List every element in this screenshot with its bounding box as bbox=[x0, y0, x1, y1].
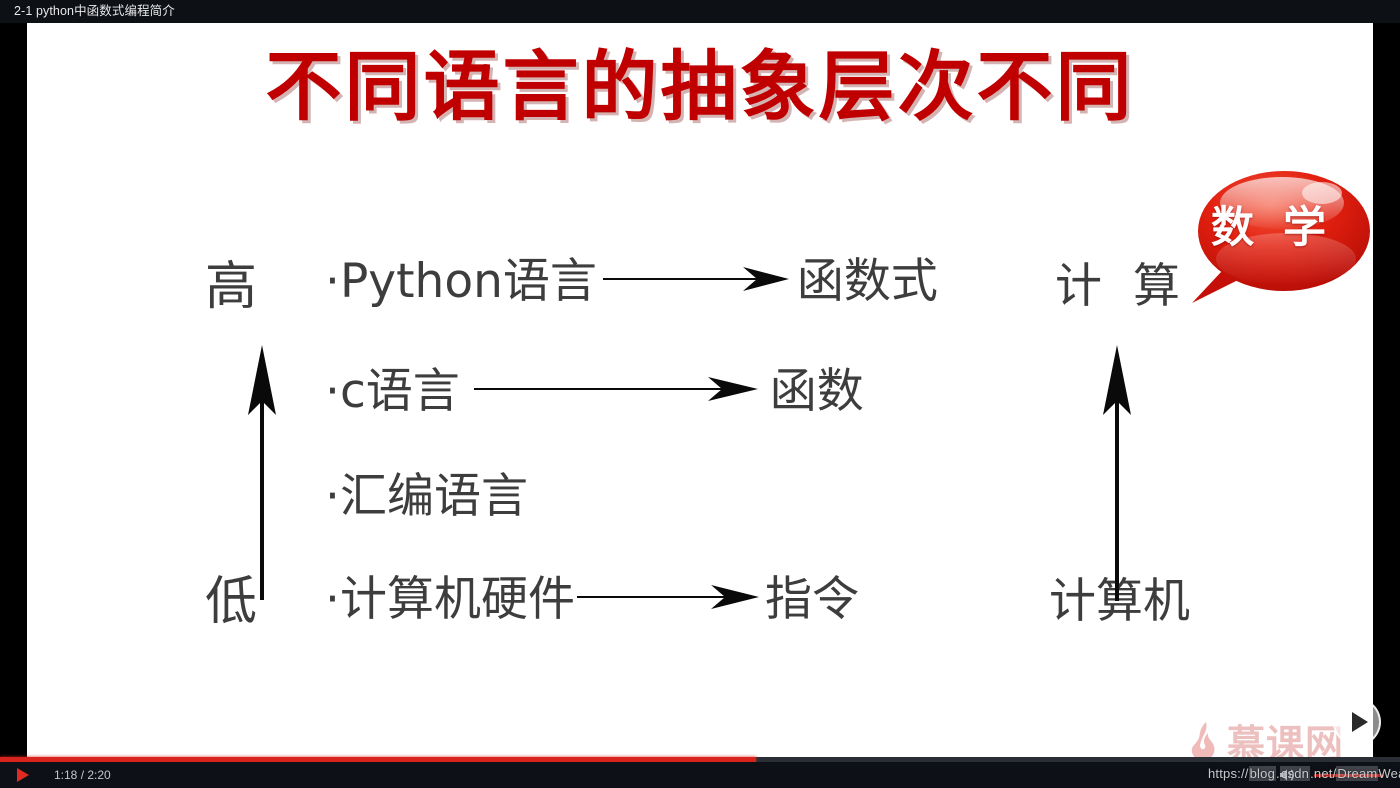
row-python: ·Python语言 函数式 bbox=[325, 258, 938, 305]
flame-icon bbox=[1189, 721, 1219, 757]
slide-canvas: 不同语言的抽象层次不同 高 低 ·Python语言 函数式 ·c语言 bbox=[27, 23, 1373, 757]
arrow-right-icon bbox=[597, 259, 797, 304]
play-icon bbox=[1352, 712, 1368, 732]
player-controls: 1:18 / 2:20 bbox=[0, 762, 1400, 788]
slide-title: 不同语言的抽象层次不同 bbox=[27, 45, 1373, 129]
volume-icon bbox=[1278, 767, 1296, 783]
play-icon bbox=[17, 768, 29, 782]
right-label-compute: 计 算 bbox=[1055, 263, 1188, 310]
scale-label-high: 高 bbox=[205, 261, 257, 313]
abstraction-level-arrow-icon bbox=[227, 345, 297, 605]
compute-level-arrow-icon bbox=[1082, 323, 1152, 606]
row-hardware: ·计算机硬件 指令 bbox=[325, 576, 859, 623]
row-target-label: 函数 bbox=[770, 368, 864, 415]
right-label-computer: 计算机 bbox=[1049, 578, 1190, 625]
window-title: 2-1 python中函数式编程简介 bbox=[0, 0, 175, 23]
row-target-label: 函数式 bbox=[797, 258, 938, 305]
volume-button[interactable] bbox=[1274, 762, 1300, 788]
scale-label-low: 低 bbox=[205, 576, 257, 628]
video-player: 2-1 python中函数式编程简介 不同语言的抽象层次不同 高 低 ·Pyth… bbox=[0, 0, 1400, 788]
row-source-label: ·c语言 bbox=[325, 368, 460, 415]
speech-bubble: 数 学 bbox=[1182, 163, 1373, 313]
row-target-label: 指令 bbox=[765, 576, 859, 623]
imooc-logo: 慕课网 bbox=[1189, 721, 1344, 757]
row-source-label: ·Python语言 bbox=[325, 258, 597, 305]
row-source-label: ·计算机硬件 bbox=[325, 576, 575, 623]
arrow-right-icon bbox=[575, 577, 765, 622]
row-c-language: ·c语言 函数 bbox=[325, 368, 864, 415]
play-pause-button[interactable] bbox=[8, 762, 38, 788]
imooc-logo-text: 慕课网 bbox=[1227, 725, 1344, 758]
play-overlay-button[interactable] bbox=[1333, 698, 1381, 746]
arrow-right-icon bbox=[460, 369, 770, 414]
controls-right-group bbox=[1274, 762, 1400, 788]
row-source-label: ·汇编语言 bbox=[325, 473, 528, 520]
row-assembly: ·汇编语言 bbox=[325, 473, 528, 520]
volume-slider-track bbox=[1314, 774, 1384, 777]
time-display: 1:18 / 2:20 bbox=[54, 762, 111, 788]
window-titlebar: 2-1 python中函数式编程简介 bbox=[0, 0, 1400, 23]
volume-slider[interactable] bbox=[1314, 762, 1384, 788]
